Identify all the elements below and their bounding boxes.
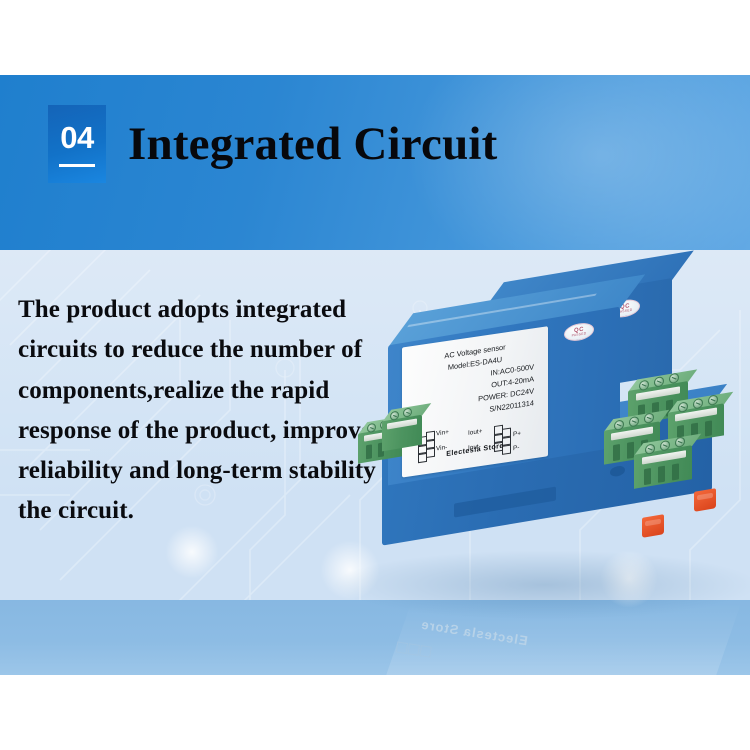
terminal-slot xyxy=(644,468,651,485)
spec-text-block: AC Voltage sensor Model:ES-DA4U IN:AC0-5… xyxy=(402,335,548,428)
product-image: QC PASSED xyxy=(352,268,750,568)
terminal-slot xyxy=(613,444,620,461)
terminal-slot xyxy=(705,420,712,436)
terminal-slot xyxy=(366,444,372,459)
product-reflection xyxy=(379,602,742,675)
terminal-label-vin-plus: Vin+ xyxy=(436,429,449,438)
base-notch xyxy=(454,486,556,517)
terminal-slot xyxy=(658,466,665,483)
badge-underline xyxy=(59,164,95,167)
terminal-slot xyxy=(672,463,679,480)
product-feature-slide: 04 Integrated Circuit xyxy=(0,0,750,750)
din-clip-rear xyxy=(694,488,716,512)
base-mount-hole xyxy=(610,465,625,478)
page-title: Integrated Circuit xyxy=(128,108,688,180)
terminal-block-left-upper xyxy=(382,405,422,452)
terminal-label-p-plus: P+ xyxy=(513,430,521,438)
step-number-badge: 04 xyxy=(48,105,106,183)
glow-node xyxy=(165,525,219,579)
step-number: 04 xyxy=(60,122,93,153)
qc-sticker-sub: PASSED xyxy=(572,332,587,338)
terminal-label-iout-plus: Iout+ xyxy=(468,428,482,437)
terminal-slot xyxy=(627,442,634,459)
product-spec-label: AC Voltage sensor Model:ES-DA4U IN:AC0-5… xyxy=(402,326,548,477)
din-clip-front xyxy=(642,514,664,538)
